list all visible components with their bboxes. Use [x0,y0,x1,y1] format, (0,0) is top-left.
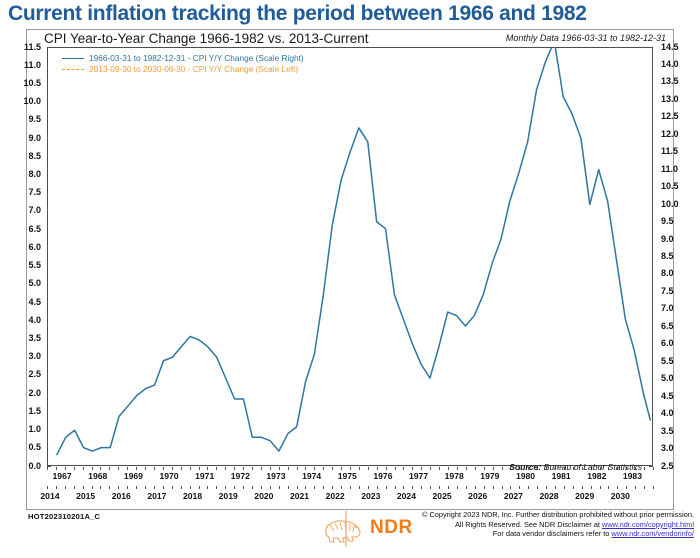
x-axis-minor-tick [323,467,324,470]
axis-right-tick-label: 14.5 [661,42,700,52]
x-axis-label-bottom: 2021 [290,491,309,501]
axis-right-tick-label: 3.5 [661,426,700,436]
x-axis-label-top: 1967 [53,471,72,481]
x-axis-minor-tick [297,486,298,489]
x-axis-minor-tick [430,486,431,489]
x-axis-minor-tick [216,486,217,489]
axis-right-tick-label: 5.5 [661,356,700,366]
x-axis-minor-tick [172,467,173,470]
series-line-1966-1982 [57,48,650,455]
x-axis-minor-tick [261,467,262,470]
x-axis-minor-tick [154,467,155,470]
x-axis-minor-tick [484,467,485,470]
x-axis-minor-tick [448,467,449,470]
x-axis-minor-tick [341,486,342,489]
x-axis-minor-tick [457,467,458,470]
x-axis-minor-tick [626,486,627,489]
x-axis-minor-tick [127,486,128,489]
x-axis-label-top: 1973 [266,471,285,481]
axis-left-tick-label: 11.5 [7,42,41,52]
axis-right-tick-label: 11.5 [661,146,700,156]
axis-right-tick-label: 2.5 [661,461,700,471]
axis-left-tick-label: 0.5 [7,442,41,452]
x-axis-minor-tick [199,486,200,489]
copyright-line-3: For data vendor disclaimers refer to www… [374,529,694,539]
x-axis-label-top: 1976 [373,471,392,481]
x-axis-minor-tick [386,467,387,470]
x-axis-minor-tick [457,486,458,489]
x-axis-label-top: 1970 [159,471,178,481]
axis-left-tick-label: 10.5 [7,78,41,88]
x-axis-minor-tick [475,486,476,489]
axis-left-tick-label: 6.0 [7,242,41,252]
x-axis-minor-tick [118,467,119,470]
x-axis-minor-tick [519,486,520,489]
x-axis-label-bottom: 2018 [183,491,202,501]
x-axis-minor-tick [502,486,503,489]
x-axis-minor-tick [270,467,271,470]
legend-label-0: 1966-03-31 to 1982-12-31 - CPI Y/Y Chang… [89,53,304,64]
x-axis-minor-tick [252,467,253,470]
x-axis-minor-tick [617,486,618,489]
x-axis-minor-tick [181,486,182,489]
x-axis-minor-tick [537,486,538,489]
x-axis-minor-tick [412,467,413,470]
x-axis-label-top: 1981 [552,471,571,481]
legend: 1966-03-31 to 1982-12-31 - CPI Y/Y Chang… [62,53,304,75]
copyright-block: © Copyright 2023 NDR, Inc. Further distr… [374,510,694,539]
x-axis-minor-tick [305,486,306,489]
axis-left-tick-label: 4.0 [7,315,41,325]
axis-right-tick-label: 10.0 [661,199,700,209]
x-axis-minor-tick [163,467,164,470]
x-axis-label-bottom: 2025 [433,491,452,501]
x-axis-label-bottom: 2028 [539,491,558,501]
x-axis-minor-tick [439,467,440,470]
x-axis-label-bottom: 2023 [361,491,380,501]
x-axis-minor-tick [92,486,93,489]
copyright-link[interactable]: www.ndr.com/copyright.html [602,520,694,529]
x-axis-minor-tick [109,467,110,470]
x-axis-label-bottom: 2026 [468,491,487,501]
x-axis-minor-tick [644,467,645,470]
x-axis-minor-tick [430,467,431,470]
axis-left-tick-label: 8.0 [7,169,41,179]
copyright-line-2-text: All Rights Reserved. See NDR Disclaimer … [455,520,602,529]
x-axis-minor-tick [136,467,137,470]
x-axis-label-bottom: 2022 [326,491,345,501]
x-axis-minor-tick [555,486,556,489]
axis-left-tick-label: 2.0 [7,388,41,398]
x-axis-minor-tick [65,467,66,470]
axis-left-tick-label: 0.0 [7,461,41,471]
x-axis-minor-tick [395,467,396,470]
source-label: Source: [509,462,541,472]
axis-right-tick-label: 8.5 [661,251,700,261]
x-axis-label-top: 1978 [445,471,464,481]
x-axis-minor-tick [207,486,208,489]
x-axis-minor-tick [314,467,315,470]
x-axis-label-bottom: 2019 [219,491,238,501]
x-axis-minor-tick [502,467,503,470]
x-axis-minor-tick [582,486,583,489]
x-axis-minor-tick [466,486,467,489]
axis-right-tick-label: 6.5 [661,321,700,331]
axis-right-tick-label: 12.0 [661,129,700,139]
x-axis-label-bottom: 2015 [76,491,95,501]
x-axis-minor-tick [288,486,289,489]
x-axis-minor-tick [83,467,84,470]
x-axis-minor-tick [653,486,654,489]
x-axis-label-bottom: 2027 [504,491,523,501]
x-axis-minor-tick [190,486,191,489]
x-axis-label-top: 1982 [587,471,606,481]
x-axis-minor-tick [225,467,226,470]
x-axis-minor-tick [386,486,387,489]
x-axis-minor-tick [199,467,200,470]
axis-left-tick-label: 5.0 [7,278,41,288]
axis-right-tick-label: 4.5 [661,391,700,401]
axis-left-tick-label: 9.0 [7,133,41,143]
x-axis-minor-tick [528,486,529,489]
chart-id: HOT202310201A_C [28,512,100,521]
x-axis-minor-tick [118,486,119,489]
chart-subtitle: CPI Year-to-Year Change 1966-1982 vs. 20… [44,31,368,46]
axis-left-tick-label: 2.5 [7,369,41,379]
x-axis-minor-tick [368,467,369,470]
x-axis-minor-tick [350,486,351,489]
axis-left-tick-label: 10.0 [7,96,41,106]
legend-swatch-dashed-icon [62,69,84,70]
legend-item-1: 2013-09-30 to 2030-06-30 - CPI Y/Y Chang… [62,64,304,75]
axis-right-tick-label: 6.0 [661,338,700,348]
x-axis-minor-tick [368,486,369,489]
axis-left-tick-label: 3.5 [7,333,41,343]
legend-swatch-solid-icon [62,58,84,59]
x-axis-minor-tick [493,486,494,489]
x-axis-label-top: 1972 [231,471,250,481]
x-axis-minor-tick [252,486,253,489]
axis-left-tick-label: 6.5 [7,224,41,234]
axis-left-tick-label: 1.5 [7,406,41,416]
x-axis-minor-tick [47,486,48,489]
x-axis-minor-tick [154,486,155,489]
monthly-data-note: Monthly Data 1966-03-31 to 1982-12-31 [506,33,666,43]
axis-right-tick-label: 5.0 [661,373,700,383]
x-axis-minor-tick [600,486,601,489]
x-axis-minor-tick [332,467,333,470]
x-axis-minor-tick [359,486,360,489]
legend-label-1: 2013-09-30 to 2030-06-30 - CPI Y/Y Chang… [89,64,298,75]
x-axis-minor-tick [635,486,636,489]
axis-left-tick-label: 3.0 [7,351,41,361]
x-axis-minor-tick [136,486,137,489]
x-axis-minor-tick [341,467,342,470]
x-axis-minor-tick [305,467,306,470]
x-axis-minor-tick [332,486,333,489]
x-axis-minor-tick [546,486,547,489]
axis-left-tick-label: 4.5 [7,297,41,307]
x-axis-minor-tick [279,467,280,470]
axis-left-tick-label: 11.0 [7,60,41,70]
x-axis-minor-tick [243,467,244,470]
x-axis-minor-tick [56,467,57,470]
x-axis-minor-tick [261,486,262,489]
x-axis-label-top: 1975 [338,471,357,481]
axis-left-tick-label: 9.5 [7,114,41,124]
x-axis-minor-tick [564,486,565,489]
x-axis-minor-tick [270,486,271,489]
x-axis-minor-tick [56,486,57,489]
x-axis-minor-tick [234,467,235,470]
x-axis-minor-tick [510,486,511,489]
axis-right-tick-label: 3.0 [661,443,700,453]
axis-right-tick-label: 11.0 [661,164,700,174]
copyright-line-2: All Rights Reserved. See NDR Disclaimer … [374,520,694,530]
x-axis-minor-tick [644,486,645,489]
axis-right-tick-label: 10.5 [661,181,700,191]
x-axis-minor-tick [92,467,93,470]
x-axis-minor-tick [421,486,422,489]
x-axis-minor-tick [65,486,66,489]
x-axis-label-top: 1968 [88,471,107,481]
x-axis-minor-tick [145,467,146,470]
x-axis-minor-tick [412,486,413,489]
x-axis-label-top: 1971 [195,471,214,481]
x-axis-label-top: 1980 [516,471,535,481]
x-axis-minor-tick [100,467,101,470]
x-axis-minor-tick [190,467,191,470]
x-axis-minor-tick [74,486,75,489]
x-axis-minor-tick [493,467,494,470]
axis-right-tick-label: 9.0 [661,234,700,244]
axis-left-tick-label: 5.5 [7,260,41,270]
x-axis-label-bottom: 2016 [112,491,131,501]
x-axis-minor-tick [377,486,378,489]
legend-item-0: 1966-03-31 to 1982-12-31 - CPI Y/Y Chang… [62,53,304,64]
copyright-line-1: © Copyright 2023 NDR, Inc. Further distr… [374,510,694,520]
x-axis-minor-tick [439,486,440,489]
x-axis-minor-tick [573,486,574,489]
x-axis-minor-tick [591,486,592,489]
x-axis-minor-tick [47,467,48,470]
x-axis-minor-tick [475,467,476,470]
plot-area [47,47,653,466]
x-axis-minor-tick [403,467,404,470]
vendorinfo-link[interactable]: www.ndr.com/vendorinfo/ [611,529,694,538]
x-axis-minor-tick [288,467,289,470]
page-title: Current inflation tracking the period be… [8,2,692,28]
axis-right-tick-label: 9.5 [661,216,700,226]
axis-right-tick-label: 7.5 [661,286,700,296]
x-axis-minor-tick [314,486,315,489]
x-axis-label-top: 1977 [409,471,428,481]
axis-right-tick-label: 12.5 [661,111,700,121]
x-axis-minor-tick [359,467,360,470]
x-axis-minor-tick [395,486,396,489]
x-axis-label-top: 1974 [302,471,321,481]
x-axis-minor-tick [608,486,609,489]
x-axis-minor-tick [279,486,280,489]
x-axis-minor-tick [172,486,173,489]
axis-left-tick-label: 8.5 [7,151,41,161]
x-axis-label-top: 1969 [124,471,143,481]
axis-right-tick-label: 13.0 [661,94,700,104]
x-axis-minor-tick [83,486,84,489]
x-axis-label-bottom: 2017 [147,491,166,501]
x-axis-label-top: 1979 [480,471,499,481]
x-axis-label-bottom: 2029 [575,491,594,501]
x-axis-label-top: 1983 [623,471,642,481]
source-note: Source: Bureau of Labor Statistics [509,462,642,472]
x-axis-minor-tick [377,467,378,470]
x-axis-minor-tick [653,467,654,470]
x-axis-minor-tick [100,486,101,489]
x-axis-minor-tick [225,486,226,489]
x-axis-minor-tick [145,486,146,489]
axis-right-tick-label: 13.5 [661,76,700,86]
x-axis-minor-tick [74,467,75,470]
x-axis-minor-tick [163,486,164,489]
axis-right-tick-label: 8.0 [661,268,700,278]
x-axis-minor-tick [109,486,110,489]
x-axis-minor-tick [323,486,324,489]
copyright-line-3-text: For data vendor disclaimers refer to [493,529,612,538]
x-axis-minor-tick [403,486,404,489]
x-axis-minor-tick [350,467,351,470]
x-axis-minor-tick [297,467,298,470]
axis-left-tick-label: 1.0 [7,424,41,434]
x-axis-label-bottom: 2014 [40,491,59,501]
x-axis-minor-tick [216,467,217,470]
x-axis-label-bottom: 2020 [254,491,273,501]
x-axis-minor-tick [484,486,485,489]
axis-right-tick-label: 14.0 [661,59,700,69]
source-value: Bureau of Labor Statistics [544,462,642,472]
x-axis-minor-tick [127,467,128,470]
x-axis-minor-tick [181,467,182,470]
x-axis-minor-tick [448,486,449,489]
axis-right-tick-label: 4.0 [661,408,700,418]
axis-left-tick-label: 7.5 [7,187,41,197]
x-axis-minor-tick [207,467,208,470]
x-axis-minor-tick [421,467,422,470]
x-axis-minor-tick [466,467,467,470]
axis-left-tick-label: 7.0 [7,205,41,215]
x-axis-minor-tick [234,486,235,489]
axis-right-tick-label: 7.0 [661,303,700,313]
x-axis-label-bottom: 2024 [397,491,416,501]
x-axis-minor-tick [243,486,244,489]
x-axis-label-bottom: 2030 [611,491,630,501]
